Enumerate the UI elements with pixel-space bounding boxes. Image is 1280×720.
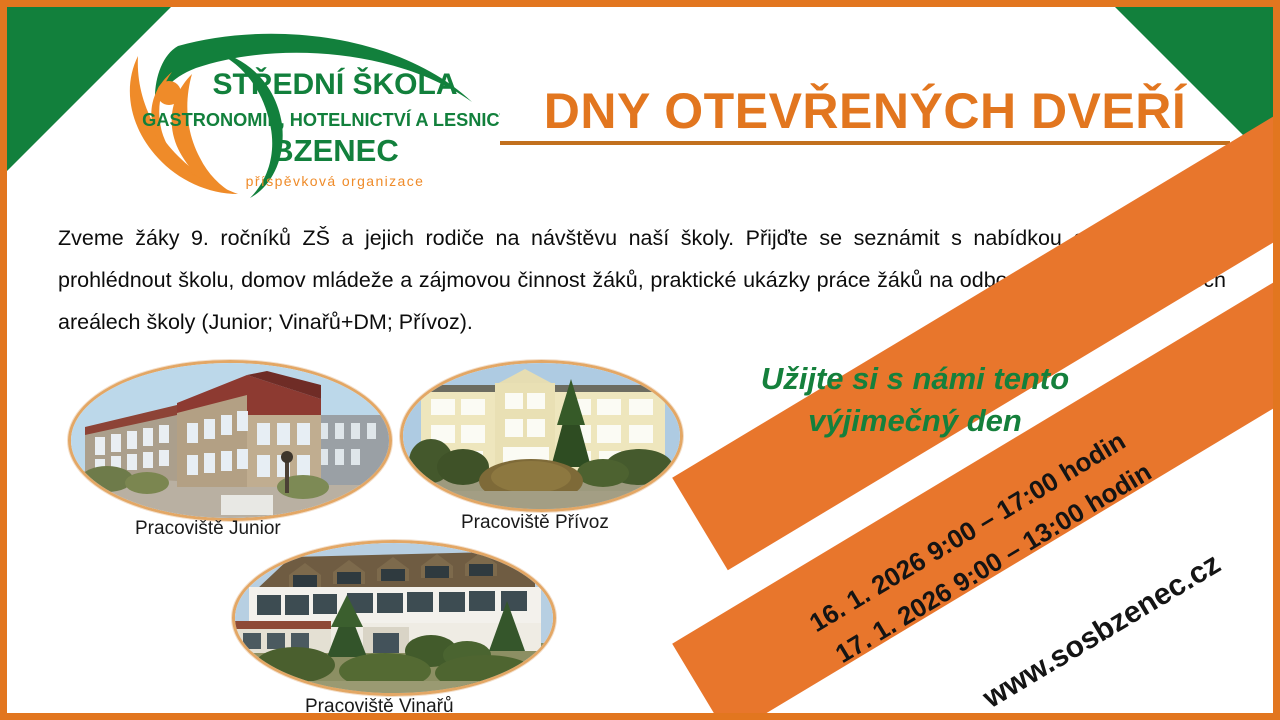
logo-line1: STŘEDNÍ ŠKOLA	[212, 67, 457, 101]
photo-caption-privoz: Pracoviště Přívoz	[461, 512, 609, 534]
poster-root: STŘEDNÍ ŠKOLA GASTRONOMIE, HOTELNICTVÍ A…	[0, 0, 1280, 720]
slogan-line-1: Užijte si s námi tento	[700, 358, 1130, 400]
slogan-line-2: výjimečný den	[700, 400, 1130, 442]
photo-junior	[68, 360, 392, 521]
page-title: DNY OTEVŘENÝCH DVEŘÍ	[500, 85, 1230, 145]
logo-line2: GASTRONOMIE, HOTELNICTVÍ A LESNICTVÍ	[142, 109, 500, 130]
banner-website[interactable]: www.sosbzenec.cz	[977, 547, 1227, 716]
banner-date-day1: 16. 1. 2026 9:00 – 17:00 hodin	[804, 425, 1131, 638]
intro-paragraph: Zveme žáky 9. ročníků ZŠ a jejich rodiče…	[58, 218, 1226, 344]
photo-caption-vinaru: Pracoviště Vinařů	[305, 696, 454, 718]
logo-line4: příspěvková organizace	[246, 173, 425, 189]
school-logo: STŘEDNÍ ŠKOLA GASTRONOMIE, HOTELNICTVÍ A…	[100, 28, 500, 203]
photo-caption-junior: Pracoviště Junior	[135, 518, 281, 540]
title-underline	[500, 141, 1230, 145]
photo-privoz	[400, 360, 683, 512]
logo-line3: BZENEC	[271, 133, 398, 168]
page-title-text: DNY OTEVŘENÝCH DVEŘÍ	[500, 85, 1230, 138]
intro-paragraph-text: Zveme žáky 9. ročníků ZŠ a jejich rodiče…	[58, 218, 1226, 344]
photo-vinaru	[232, 540, 556, 696]
slogan: Užijte si s námi tento výjimečný den	[700, 358, 1130, 442]
